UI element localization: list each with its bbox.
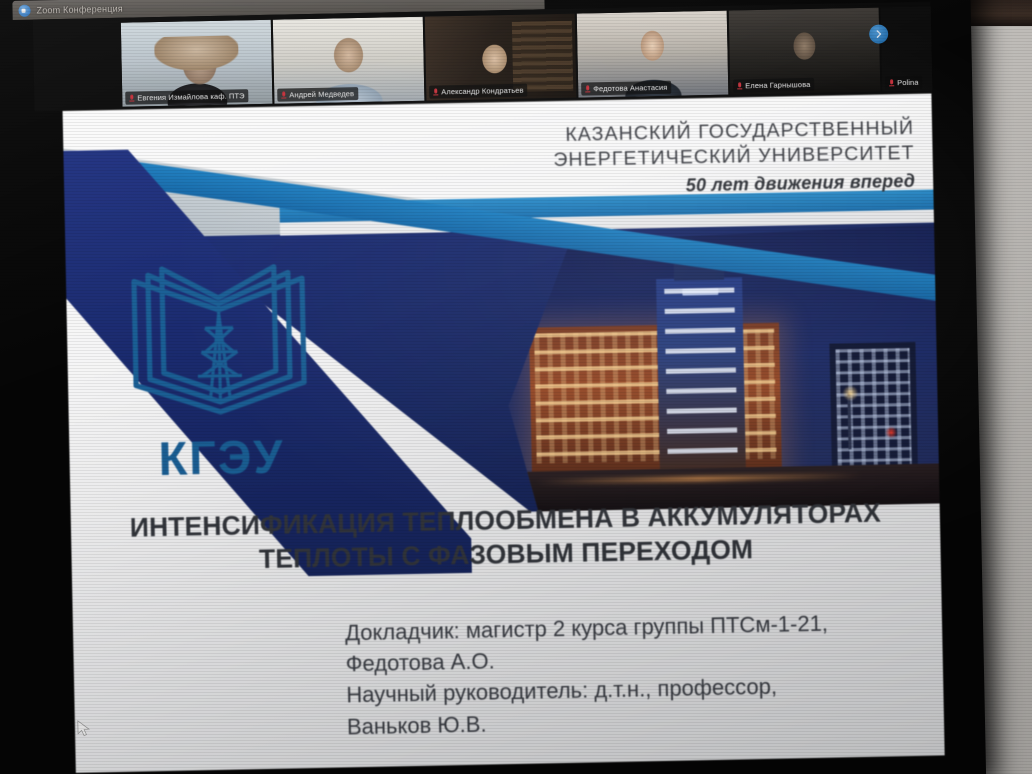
participant-name: Polina	[897, 78, 919, 87]
participant-display-name: Polina	[881, 41, 945, 54]
participant-name-chip: Александр Кондратьев	[429, 84, 528, 99]
participant-name-chip: Елена Гарнышова	[733, 78, 814, 93]
kgeu-logo-text: КГЭУ	[111, 428, 332, 487]
participant-name: Елена Гарнышова	[745, 80, 810, 90]
participant-name: Евгения Измайлова каф. ПТЭ	[137, 91, 244, 102]
participant-tile[interactable]: Федотова Анастасия	[577, 11, 729, 98]
muted-microphone-icon	[129, 94, 134, 102]
mouse-pointer-icon	[77, 720, 91, 738]
muted-microphone-icon	[281, 91, 286, 99]
participant-name-chip: Андрей Медведев	[277, 87, 358, 102]
participant-tile[interactable]: Александр Кондратьев	[425, 14, 577, 101]
kgeu-book-power-tower-logo	[107, 250, 331, 434]
presentation-slide: КАЗАНСКИЙ ГОСУДАРСТВЕННЫЙ ЭНЕРГЕТИЧЕСКИЙ…	[63, 94, 945, 773]
participant-name: Федотова Анастасия	[593, 83, 667, 93]
participant-name-chip: Федотова Анастасия	[581, 81, 671, 96]
muted-microphone-icon	[737, 82, 742, 90]
window-title: Zoom Конференция	[36, 3, 123, 15]
participant-tile[interactable]: Polina Polina	[881, 5, 946, 92]
muted-microphone-icon	[433, 88, 438, 96]
screen-content: Zoom Конференция Евгения Измайлова каф. …	[0, 0, 945, 774]
background-highrise	[829, 342, 918, 472]
muted-microphone-icon	[889, 79, 894, 87]
participant-name-chip: Евгения Измайлова каф. ПТЭ	[125, 89, 249, 104]
building-central-tower	[656, 277, 746, 475]
tower-windows	[664, 288, 737, 457]
photo-of-monitor-scene: Zoom Конференция Евгения Измайлова каф. …	[0, 0, 1032, 774]
chevron-right-icon	[874, 29, 883, 38]
slide-authors: Докладчик: магистр 2 курса группы ПТСм-1…	[345, 606, 920, 742]
participant-tile[interactable]: Евгения Измайлова каф. ПТЭ	[121, 20, 273, 107]
university-header: КАЗАНСКИЙ ГОСУДАРСТВЕННЫЙ ЭНЕРГЕТИЧЕСКИЙ…	[553, 116, 916, 199]
participant-tile[interactable]: Елена Гарнышова	[729, 8, 881, 95]
zoom-camera-icon	[18, 4, 30, 16]
kgeu-logo: КГЭУ	[107, 250, 332, 484]
participant-name: Андрей Медведев	[289, 89, 354, 99]
participant-name: Александр Кондратьев	[441, 86, 524, 97]
participant-filmstrip[interactable]: Евгения Измайлова каф. ПТЭ Андрей Медвед…	[33, 2, 933, 112]
participant-tile[interactable]: Андрей Медведев	[273, 17, 425, 104]
slide-title: ИНТЕНСИФИКАЦИЯ ТЕПЛООБМЕНА В АККУМУЛЯТОР…	[71, 495, 941, 580]
monitor-screen: Zoom Конференция Евгения Измайлова каф. …	[0, 0, 986, 774]
muted-microphone-icon	[585, 85, 590, 93]
participant-name-chip: Polina	[885, 76, 923, 90]
